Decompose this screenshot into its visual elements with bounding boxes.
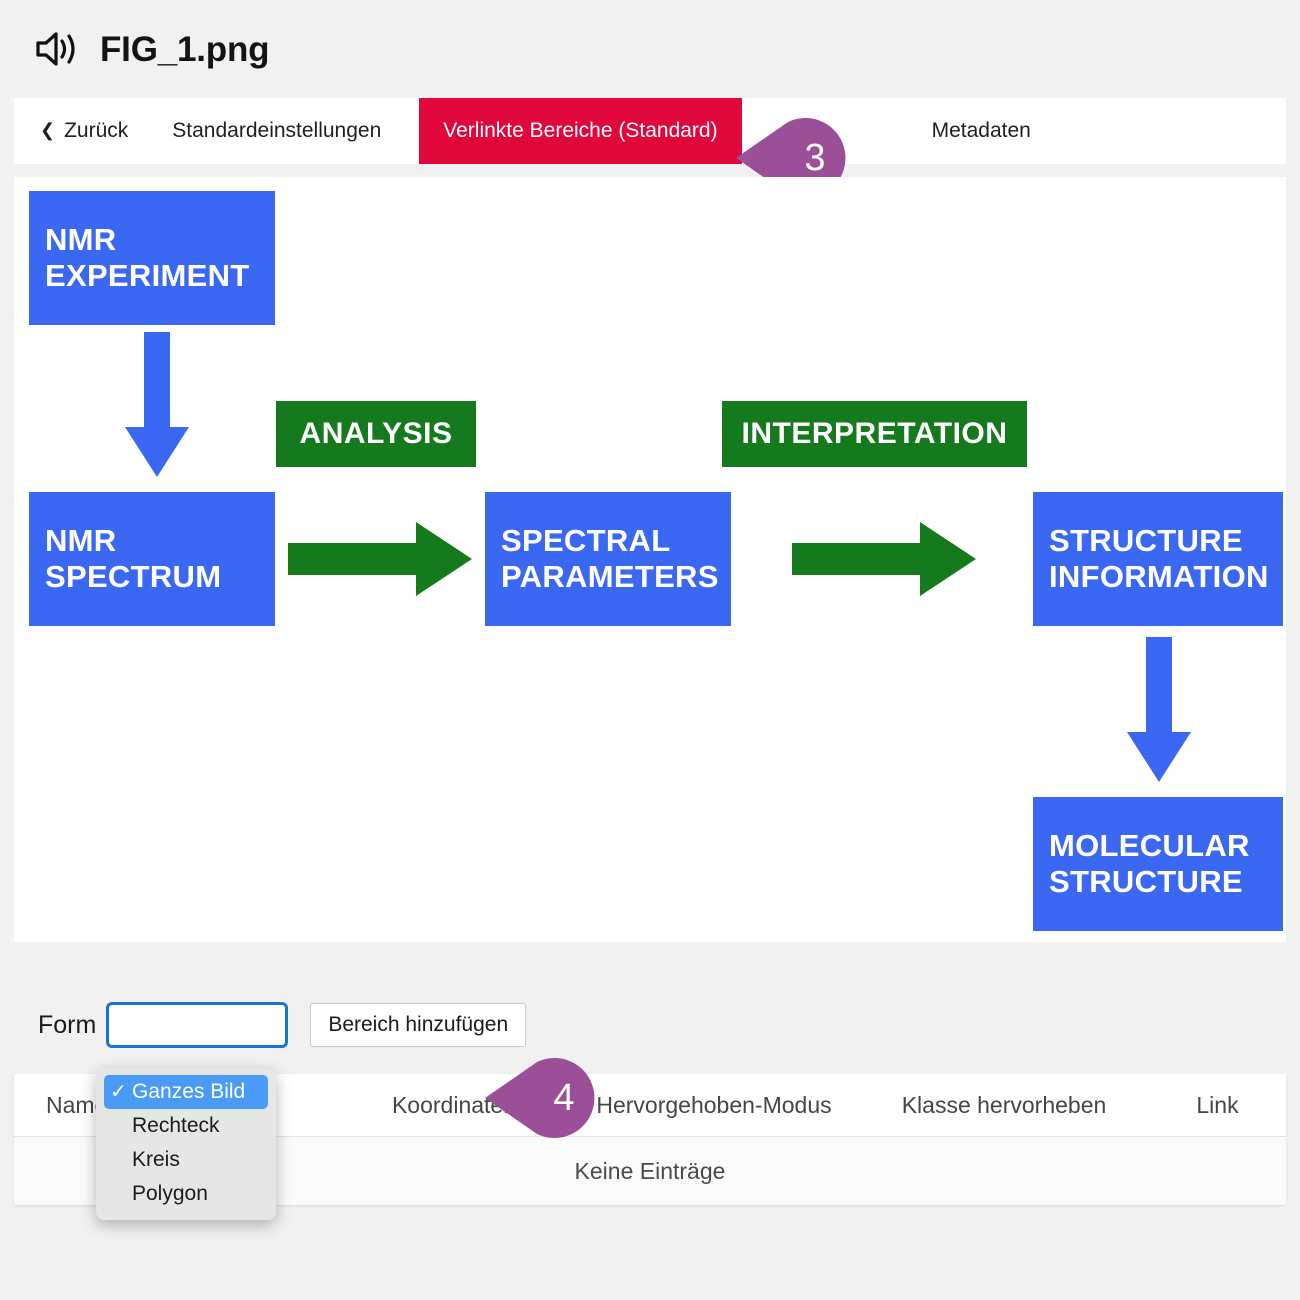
- figure-box-analysis: ANALYSIS: [276, 401, 476, 467]
- dropdown-option-ganzes-bild[interactable]: ✓ Ganzes Bild: [104, 1075, 268, 1109]
- tab-label: Verlinkte Bereiche (Standard): [443, 119, 717, 143]
- figure-box-nmr-experiment: NMR EXPERIMENT: [29, 191, 275, 325]
- shape-select-host[interactable]: [106, 1002, 288, 1048]
- back-button[interactable]: ❮ Zurück: [14, 98, 150, 164]
- tab-label: Metadaten: [932, 119, 1031, 143]
- figure-box-structure-information: STRUCTURE INFORMATION: [1033, 492, 1283, 626]
- page-title: FIG_1.png: [100, 32, 269, 67]
- tab-standardeinstellungen[interactable]: Standardeinstellungen: [150, 98, 419, 164]
- tab-verlinkte-bereiche[interactable]: Verlinkte Bereiche (Standard): [419, 98, 741, 164]
- tab-label: Standardeinstellungen: [172, 119, 381, 143]
- figure-box-molecular-structure: MOLECULAR STRUCTURE: [1033, 797, 1283, 931]
- figure-flowchart: NMR EXPERIMENT NMR SPECTRUM ANALYSIS SPE…: [14, 177, 1286, 942]
- figure-box-interpretation: INTERPRETATION: [722, 401, 1027, 467]
- arrow-experiment-to-spectrum: [122, 332, 192, 482]
- image-preview-panel[interactable]: NMR EXPERIMENT NMR SPECTRUM ANALYSIS SPE…: [14, 177, 1286, 942]
- page-header: FIG_1.png: [0, 0, 1300, 98]
- shape-select-focus-ring[interactable]: [106, 1002, 288, 1048]
- add-area-button[interactable]: Bereich hinzufügen: [310, 1003, 526, 1047]
- figure-box-spectral-parameters: SPECTRAL PARAMETERS: [485, 492, 731, 626]
- dropdown-option-label: Kreis: [132, 1148, 180, 1172]
- dropdown-option-kreis[interactable]: Kreis: [96, 1143, 276, 1177]
- table-col-hervorgehoben-modus[interactable]: Hervorgehoben-Modus: [569, 1092, 859, 1119]
- speaker-icon: [34, 29, 80, 69]
- dropdown-option-label: Rechteck: [132, 1114, 220, 1138]
- dropdown-option-rechteck[interactable]: Rechteck: [96, 1109, 276, 1143]
- shape-select-dropdown[interactable]: ✓ Ganzes Bild Rechteck Kreis Polygon: [96, 1068, 276, 1220]
- chevron-left-icon: ❮: [40, 121, 55, 139]
- check-icon: ✓: [110, 1082, 132, 1102]
- figure-box-nmr-spectrum: NMR SPECTRUM: [29, 492, 275, 626]
- tab-metadaten[interactable]: Metadaten: [892, 98, 1055, 164]
- shape-controls-row: Form Bereich hinzufügen: [14, 990, 1286, 1060]
- arrow-parameters-to-structure: [792, 519, 978, 599]
- back-button-label: Zurück: [64, 119, 128, 143]
- table-col-link[interactable]: Link: [1149, 1092, 1286, 1119]
- table-col-koordinaten[interactable]: Koordinaten: [339, 1092, 569, 1119]
- table-col-klasse-hervorheben[interactable]: Klasse hervorheben: [859, 1092, 1149, 1119]
- tabbar: ❮ Zurück Standardeinstellungen Verlinkte…: [14, 98, 1286, 164]
- tabbar-wrap: ❮ Zurück Standardeinstellungen Verlinkte…: [14, 98, 1286, 164]
- dropdown-option-label: Ganzes Bild: [132, 1080, 245, 1104]
- form-label: Form: [14, 1011, 96, 1040]
- arrow-spectrum-to-parameters: [288, 519, 474, 599]
- tab-gap-spacer: [742, 98, 892, 164]
- arrow-structure-to-molecular: [1124, 637, 1194, 787]
- dropdown-option-label: Polygon: [132, 1182, 208, 1206]
- dropdown-option-polygon[interactable]: Polygon: [96, 1177, 276, 1211]
